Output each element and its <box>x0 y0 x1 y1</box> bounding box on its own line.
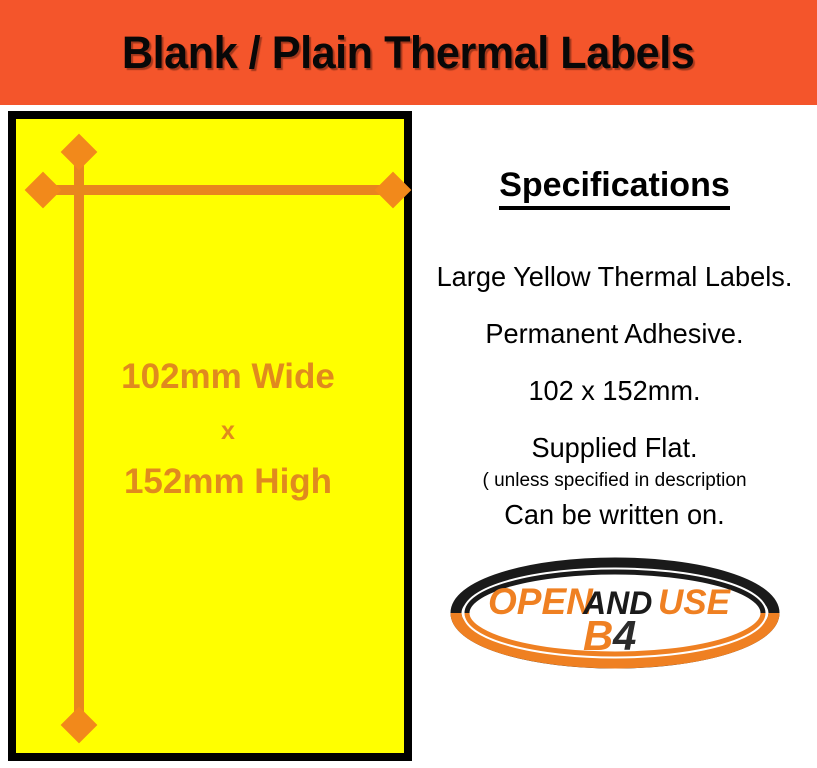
spec-note-text: ( unless specified in description <box>412 470 817 492</box>
page-title: Blank / Plain Thermal Labels <box>122 30 694 75</box>
logo-text-open: OPEN <box>488 581 594 622</box>
width-arrow-left-marker-icon <box>25 172 62 209</box>
label-width-text: 102mm Wide <box>16 359 404 396</box>
dimension-separator-text: x <box>16 418 404 444</box>
spec-item-supply-format: Supplied Flat. <box>418 433 811 464</box>
width-arrow-right-marker-icon <box>375 172 412 209</box>
logo-text-use: USE <box>658 583 732 622</box>
label-preview: 102mm Wide x 152mm High <box>8 111 412 761</box>
header-banner: Blank / Plain Thermal Labels <box>0 0 817 105</box>
spec-item-material: Large Yellow Thermal Labels. <box>418 262 811 293</box>
label-surface: 102mm Wide x 152mm High <box>16 119 404 753</box>
label-height-text: 152mm High <box>16 464 404 501</box>
logo-text-4: 4 <box>612 612 636 659</box>
logo-text-b: B <box>583 612 613 659</box>
spec-item-writable: Can be written on. <box>418 500 811 531</box>
dimension-text-block: 102mm Wide x 152mm High <box>16 359 404 501</box>
height-arrow-bottom-marker-icon <box>61 707 98 744</box>
spec-item-adhesive: Permanent Adhesive. <box>418 319 811 350</box>
width-arrow-line <box>44 185 392 195</box>
spec-item-size: 102 x 152mm. <box>418 376 811 407</box>
specifications-panel: Specifications Large Yellow Thermal Labe… <box>412 111 817 768</box>
brand-logo: OPEN AND USE B 4 <box>412 556 817 671</box>
height-arrow-top-marker-icon <box>61 134 98 171</box>
product-image-root: Blank / Plain Thermal Labels 102mm Wide … <box>0 0 817 768</box>
specifications-heading: Specifications <box>499 167 730 210</box>
openanduseb4-logo-icon: OPEN AND USE B 4 <box>450 556 780 671</box>
